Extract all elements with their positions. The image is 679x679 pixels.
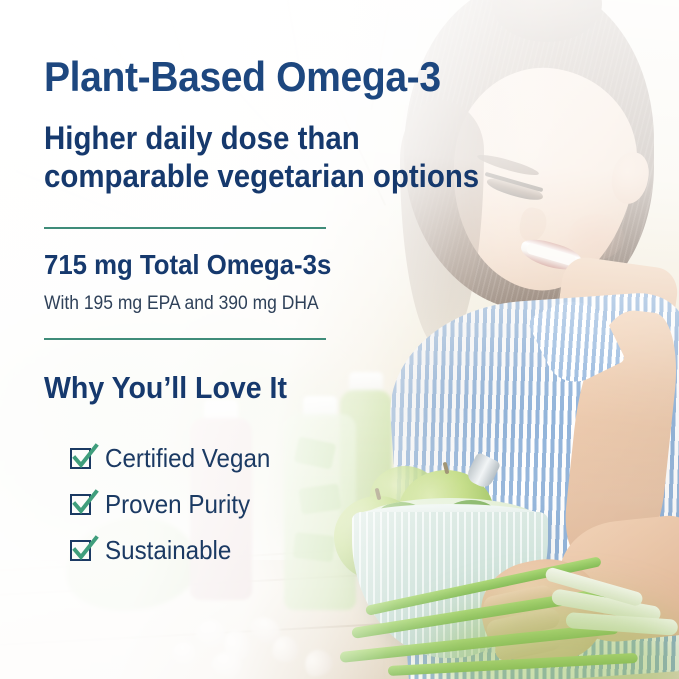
- subheadline: Higher daily dose than comparable vegeta…: [44, 120, 479, 196]
- checked-checkbox-icon: [70, 540, 91, 561]
- copy-block: Plant-Based Omega-3 Higher daily dose th…: [0, 0, 679, 679]
- benefits-list: Certified Vegan Proven Purity Sustainabl…: [70, 435, 283, 573]
- subheadline-line-1: Higher daily dose than: [44, 120, 479, 158]
- benefit-label: Proven Purity: [105, 489, 250, 520]
- product-feature-card: Plant-Based Omega-3 Higher daily dose th…: [0, 0, 679, 679]
- page-title: Plant-Based Omega-3: [44, 56, 441, 98]
- epa-dha-breakdown: With 195 mg EPA and 390 mg DHA: [44, 293, 319, 315]
- checked-checkbox-icon: [70, 494, 91, 515]
- total-omega-3-value: 715 mg Total Omega-3s: [44, 249, 331, 281]
- list-item: Certified Vegan: [70, 435, 283, 481]
- subheadline-line-2: comparable vegetarian options: [44, 158, 479, 196]
- list-item: Sustainable: [70, 527, 283, 573]
- divider-rule-bottom: [44, 338, 326, 340]
- benefit-label: Certified Vegan: [105, 443, 270, 474]
- checked-checkbox-icon: [70, 448, 91, 469]
- list-item: Proven Purity: [70, 481, 283, 527]
- divider-rule-top: [44, 227, 326, 229]
- benefit-label: Sustainable: [105, 535, 231, 566]
- benefits-section-title: Why You’ll Love It: [44, 370, 287, 406]
